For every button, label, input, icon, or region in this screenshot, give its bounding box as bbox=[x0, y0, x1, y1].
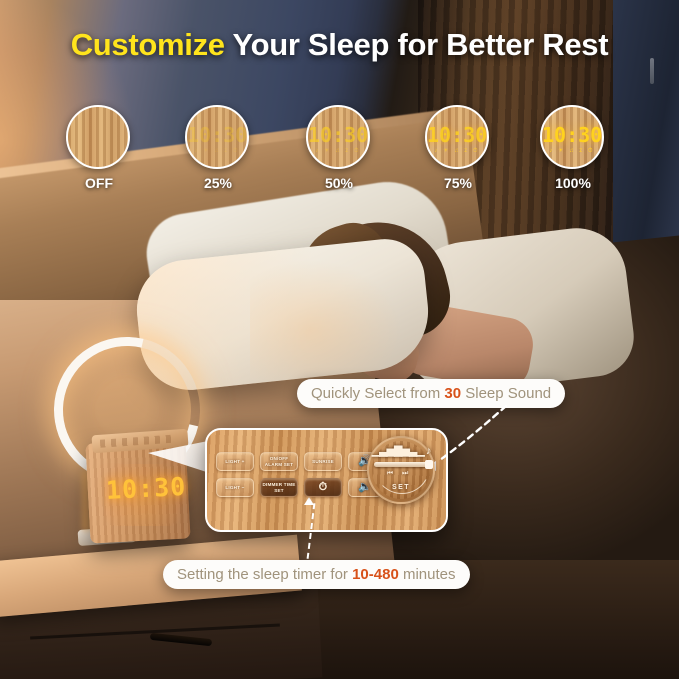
product-marketing-image: 10:30 Customize Your Sleep for Better Re… bbox=[0, 0, 679, 679]
brightness-level-25[interactable]: 10:30 ♪ ☀ ♫ z ⏱ 25% bbox=[185, 105, 251, 191]
button-sunrise[interactable]: SUNRISE bbox=[304, 452, 342, 471]
page-title: Customize Your Sleep for Better Rest bbox=[0, 27, 679, 63]
brightness-level-label: OFF bbox=[66, 175, 132, 191]
button-dimmer-time-set[interactable]: DIMMER TIME SET bbox=[260, 478, 298, 497]
callout-timer-prefix: Setting the sleep timer for bbox=[177, 566, 352, 583]
brightness-level-75[interactable]: 10:30 ♪ ☀ ♫ z ⏱ 75% bbox=[425, 105, 491, 191]
callout-sound-suffix: Sleep Sound bbox=[461, 385, 551, 402]
brightness-level-50[interactable]: 10:30 ♪ ☀ ♫ z ⏱ 50% bbox=[306, 105, 372, 191]
brightness-preview-circle: 10:30 ♪ ☀ ♫ z ⏱ bbox=[540, 105, 604, 169]
preview-indicator-icons: ♪ ☀ ♫ z ⏱ bbox=[542, 147, 602, 155]
preview-time: 10:30 bbox=[427, 123, 487, 147]
brightness-preview-circle: 10:30 ♪ ☀ ♫ z ⏱ bbox=[185, 105, 249, 169]
callout-timer-suffix: minutes bbox=[399, 566, 456, 583]
brightness-level-label: 25% bbox=[185, 175, 251, 191]
callout-sound-prefix: Quickly Select from bbox=[311, 385, 444, 402]
sound-connector-line bbox=[432, 404, 512, 470]
brightness-preview-circle bbox=[66, 105, 130, 169]
brightness-preview-circle: 10:30 ♪ ☀ ♫ z ⏱ bbox=[306, 105, 370, 169]
title-rest: Your Sleep for Better Rest bbox=[225, 27, 609, 62]
preview-time: 10:30 bbox=[542, 123, 602, 147]
timer-icon[interactable]: ⏱ bbox=[304, 478, 342, 497]
brightness-level-label: 100% bbox=[540, 175, 606, 191]
preview-indicator-icons: ♪ ☀ ♫ z ⏱ bbox=[427, 147, 487, 155]
brightness-level-off[interactable]: OFF bbox=[66, 105, 132, 191]
brightness-level-label: 75% bbox=[425, 175, 491, 191]
callout-sound-emphasis: 30 bbox=[444, 385, 461, 402]
button-light-down[interactable]: LIGHT − bbox=[216, 478, 254, 497]
button-light-up[interactable]: LIGHT + bbox=[216, 452, 254, 471]
callout-sleep-timer: Setting the sleep timer for 10-480 minut… bbox=[163, 560, 470, 589]
brightness-level-label: 50% bbox=[306, 175, 372, 191]
brightness-level-100[interactable]: 10:30 ♪ ☀ ♫ z ⏱ 100% bbox=[540, 105, 606, 191]
dial-set-label: SET bbox=[367, 484, 435, 491]
brightness-preview-circle: 10:30 ♪ ☀ ♫ z ⏱ bbox=[425, 105, 489, 169]
preview-indicator-icons: ♪ ☀ ♫ z ⏱ bbox=[308, 147, 368, 155]
alarm-clock-time: 10:30 bbox=[105, 472, 182, 505]
button-on-off-alarm-set[interactable]: ON/OFF ALARM SET bbox=[260, 452, 298, 471]
timer-connector-arrow bbox=[304, 497, 314, 505]
preview-time: 10:30 bbox=[308, 123, 368, 147]
preview-indicator-icons: ♪ ☀ ♫ z ⏱ bbox=[187, 147, 247, 155]
title-highlight: Customize bbox=[71, 27, 225, 62]
callout-timer-emphasis: 10-480 bbox=[352, 566, 399, 583]
sound-wave-icon: ▁▃▅▇▅▃▁ ♪ bbox=[371, 444, 431, 457]
brightness-levels-row: OFF 10:30 ♪ ☀ ♫ z ⏱ 25% 10:30 ♪ ☀ ♫ z ⏱ … bbox=[0, 105, 679, 195]
preview-time: 10:30 bbox=[187, 123, 247, 147]
